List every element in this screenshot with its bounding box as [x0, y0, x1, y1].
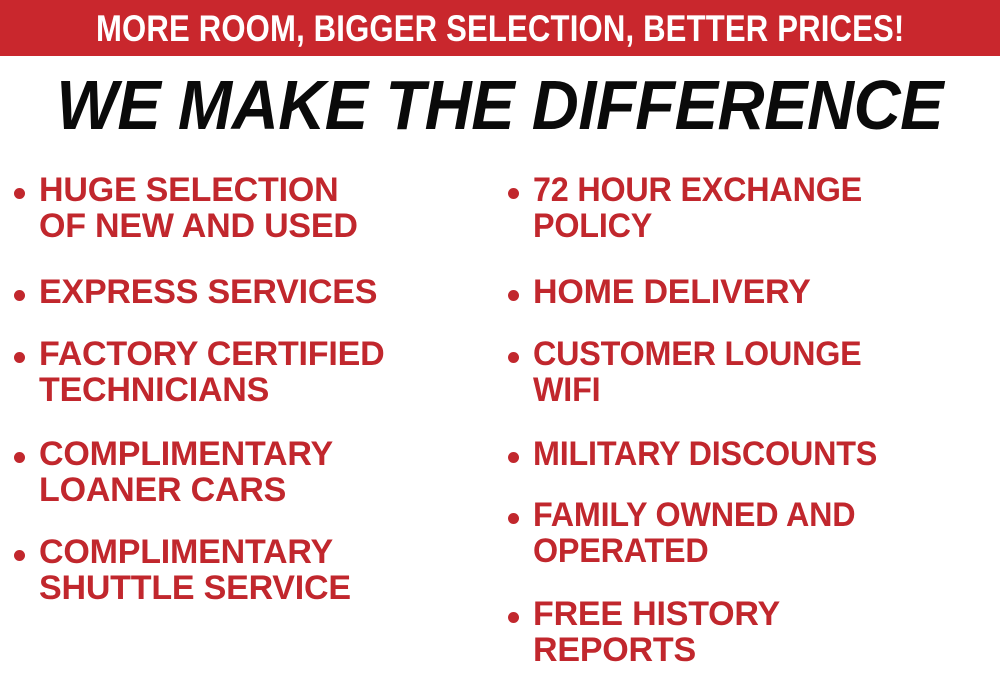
bullet-dot-icon — [508, 513, 519, 524]
bullet-dot-icon — [508, 352, 519, 363]
list-item: COMPLIMENTARY LOANER CARS — [14, 436, 333, 508]
bullet-dot-icon — [508, 612, 519, 623]
list-item: MILITARY DISCOUNTS — [508, 436, 895, 472]
bullet-dot-icon — [14, 550, 25, 561]
benefits-column-right: 72 HOUR EXCHANGE POLICY HOME DELIVERY CU… — [508, 156, 1000, 694]
benefits-columns: HUGE SELECTION OF NEW AND USED EXPRESS S… — [0, 156, 1000, 694]
benefits-column-left: HUGE SELECTION OF NEW AND USED EXPRESS S… — [14, 156, 500, 694]
bullet-dot-icon — [508, 290, 519, 301]
list-item-label: MILITARY DISCOUNTS — [533, 436, 877, 472]
list-item-label: FACTORY CERTIFIED TECHNICIANS — [39, 336, 384, 408]
list-item-label: CUSTOMER LOUNGE WIFI — [533, 336, 862, 408]
list-item-label: COMPLIMENTARY LOANER CARS — [39, 436, 333, 508]
list-item: FREE HISTORY REPORTS — [508, 596, 780, 668]
list-item: FAMILY OWNED AND OPERATED — [508, 497, 872, 569]
list-item-label: HUGE SELECTION OF NEW AND USED — [39, 172, 358, 244]
promo-poster: MORE ROOM, BIGGER SELECTION, BETTER PRIC… — [0, 0, 1000, 694]
list-item-label: COMPLIMENTARY SHUTTLE SERVICE — [39, 534, 351, 606]
list-item-label: 72 HOUR EXCHANGE POLICY — [533, 172, 862, 244]
bullet-dot-icon — [14, 290, 25, 301]
list-item: COMPLIMENTARY SHUTTLE SERVICE — [14, 534, 351, 606]
list-item: FACTORY CERTIFIED TECHNICIANS — [14, 336, 384, 408]
list-item: EXPRESS SERVICES — [14, 274, 377, 310]
headline-row: WE MAKE THE DIFFERENCE — [0, 62, 1000, 148]
page-title: WE MAKE THE DIFFERENCE — [57, 70, 944, 140]
promo-banner: MORE ROOM, BIGGER SELECTION, BETTER PRIC… — [0, 0, 1000, 56]
list-item-label: FREE HISTORY REPORTS — [533, 596, 780, 668]
banner-headline: MORE ROOM, BIGGER SELECTION, BETTER PRIC… — [96, 10, 904, 47]
list-item: HUGE SELECTION OF NEW AND USED — [14, 172, 358, 244]
bullet-dot-icon — [14, 352, 25, 363]
bullet-dot-icon — [508, 452, 519, 463]
bullet-dot-icon — [14, 452, 25, 463]
bullet-dot-icon — [508, 188, 519, 199]
list-item-label: FAMILY OWNED AND OPERATED — [533, 497, 855, 569]
list-item: CUSTOMER LOUNGE WIFI — [508, 336, 879, 408]
list-item: HOME DELIVERY — [508, 274, 811, 310]
list-item: 72 HOUR EXCHANGE POLICY — [508, 172, 879, 244]
list-item-label: HOME DELIVERY — [533, 274, 811, 310]
bullet-dot-icon — [14, 188, 25, 199]
list-item-label: EXPRESS SERVICES — [39, 274, 377, 310]
